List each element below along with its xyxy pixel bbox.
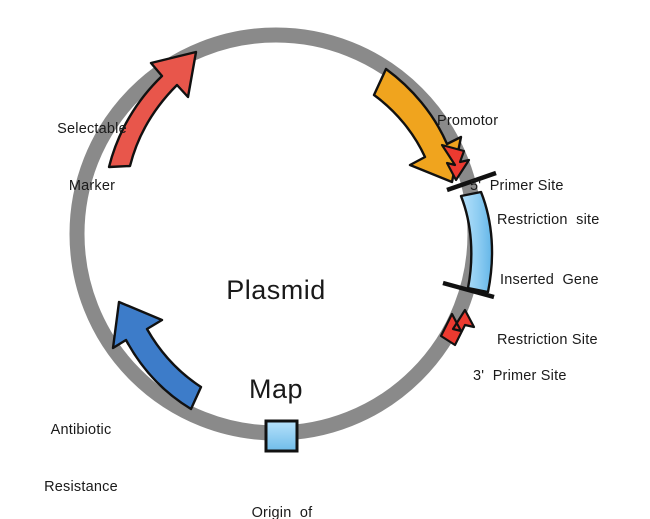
figure-title-line1: Plasmid — [186, 274, 366, 307]
label-three-prime-primer-site: 3' Primer Site — [473, 329, 567, 424]
figure-title: Plasmid Map — [186, 208, 366, 472]
label-origin-of-replication-line1: Origin of — [216, 504, 348, 519]
label-restriction-site-upper-line1: Restriction site — [497, 211, 600, 230]
label-inserted-gene-line1: Inserted Gene — [500, 271, 599, 290]
label-selectable-marker-line1: Selectable — [32, 120, 152, 139]
label-antibiotic-resistance-gene: Antibiotic Resistance Gene — [21, 383, 141, 519]
label-antibiotic-resistance-gene-line2: Resistance — [21, 478, 141, 497]
label-three-prime-primer-site-line1: 3' Primer Site — [473, 367, 567, 386]
plasmid-map-figure: Plasmid Map Selectable Marker Promotor 5… — [0, 0, 650, 519]
label-origin-of-replication: Origin of Replication — [216, 466, 348, 519]
label-antibiotic-resistance-gene-line1: Antibiotic — [21, 421, 141, 440]
label-promotor-line1: Promotor — [437, 112, 498, 131]
figure-title-line2: Map — [186, 373, 366, 406]
label-selectable-marker-line2: Marker — [32, 177, 152, 196]
label-selectable-marker: Selectable Marker — [32, 82, 152, 234]
